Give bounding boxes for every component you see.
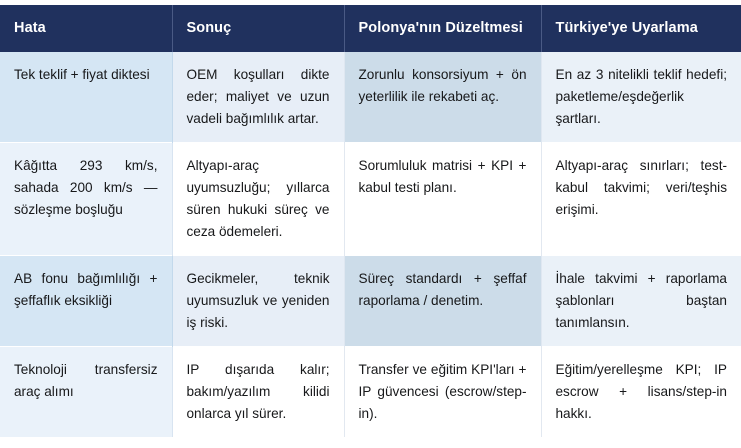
cell-hata: Kâğıtta 293 km/s, sahada 200 km/s — sözl… [0, 143, 172, 256]
table-row: Tek teklif + fiyat diktesi OEM koşulları… [0, 52, 741, 143]
column-header-turkiye-uyarlama: Türkiye'ye Uyarlama [541, 5, 741, 52]
cell-sonuc: Altyapı-araç uyumsuzluğu; yıllarca süren… [172, 143, 344, 256]
table-header: Hata Sonuç Polonya'nın Düzeltmesi Türkiy… [0, 5, 741, 52]
cell-turkiye: Eğitim/yerelleşme KPI; IP escrow + lisan… [541, 347, 741, 438]
header-row: Hata Sonuç Polonya'nın Düzeltmesi Türkiy… [0, 5, 741, 52]
table-row: Kâğıtta 293 km/s, sahada 200 km/s — sözl… [0, 143, 741, 256]
cell-turkiye: İhale takvimi + raporlama şablonları baş… [541, 256, 741, 347]
table-body: Tek teklif + fiyat diktesi OEM koşulları… [0, 52, 741, 437]
cell-polonya: Süreç standardı + şeffaf raporlama / den… [344, 256, 541, 347]
cell-polonya: Sorumluluk matrisi + KPI + kabul testi p… [344, 143, 541, 256]
cell-turkiye: Altyapı-araç sınırları; test-kabul takvi… [541, 143, 741, 256]
cell-sonuc: OEM koşulları dikte eder; maliyet ve uzu… [172, 52, 344, 143]
cell-hata: AB fonu bağımlılığı + şeffaflık eksikliğ… [0, 256, 172, 347]
cell-hata: Tek teklif + fiyat diktesi [0, 52, 172, 143]
column-header-sonuc: Sonuç [172, 5, 344, 52]
cell-polonya: Transfer ve eğitim KPI'ları + IP güvence… [344, 347, 541, 438]
cell-hata: Teknoloji transfersiz araç alımı [0, 347, 172, 438]
column-header-hata: Hata [0, 5, 172, 52]
cell-turkiye: En az 3 nitelikli teklif hedefi; paketle… [541, 52, 741, 143]
comparison-table: Hata Sonuç Polonya'nın Düzeltmesi Türkiy… [0, 5, 741, 437]
comparison-table-container: Hata Sonuç Polonya'nın Düzeltmesi Türkiy… [0, 0, 741, 448]
cell-sonuc: Gecikmeler, teknik uyumsuzluk ve yeniden… [172, 256, 344, 347]
column-header-polonya-duzeltmesi: Polonya'nın Düzeltmesi [344, 5, 541, 52]
cell-sonuc: IP dışarıda kalır; bakım/yazılım kilidi … [172, 347, 344, 438]
table-row: Teknoloji transfersiz araç alımı IP dışa… [0, 347, 741, 438]
table-row: AB fonu bağımlılığı + şeffaflık eksikliğ… [0, 256, 741, 347]
cell-polonya: Zorunlu konsorsiyum + ön yeterlilik ile … [344, 52, 541, 143]
